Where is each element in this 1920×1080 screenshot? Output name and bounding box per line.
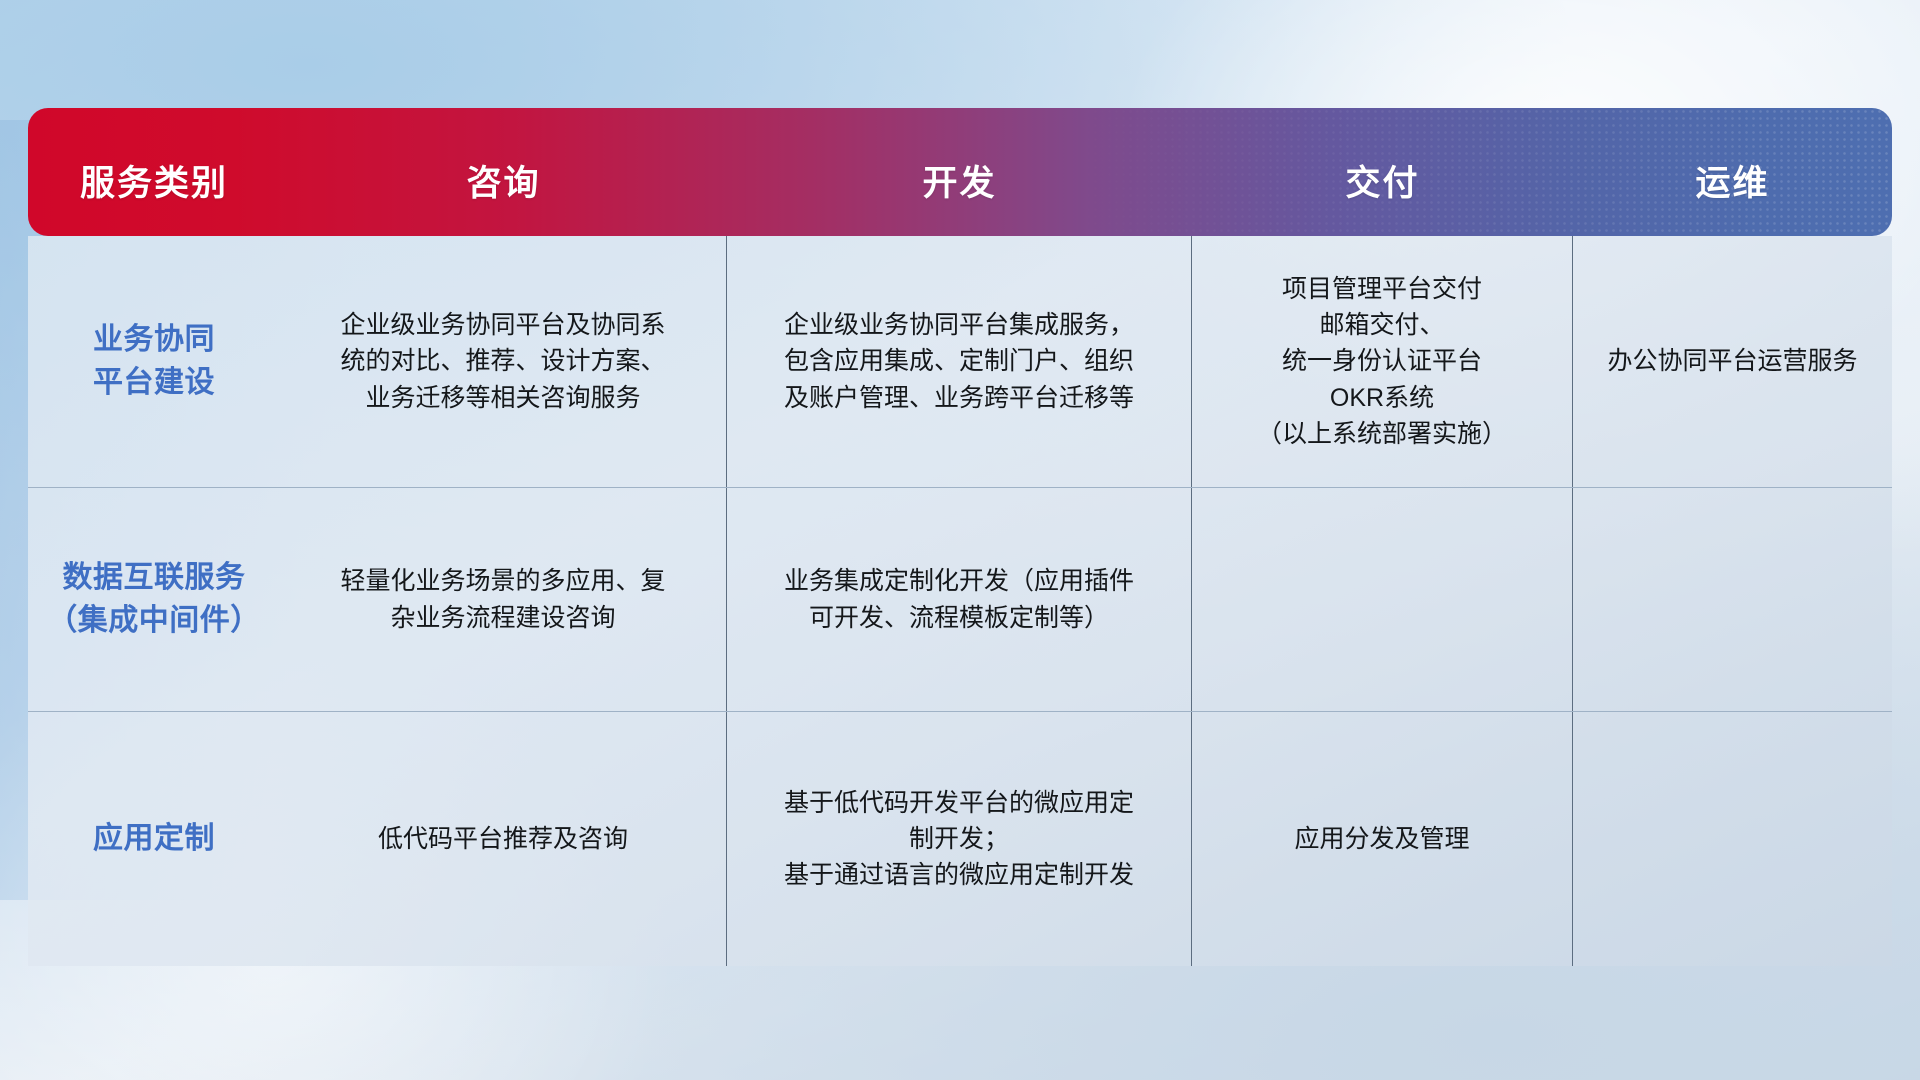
column-header-consulting: 咨询 [280,155,727,236]
cell-development: 业务集成定制化开发（应用插件 可开发、流程模板定制等） [727,488,1192,711]
column-header-delivery: 交付 [1192,155,1573,236]
table-row: 数据互联服务 （集成中间件） 轻量化业务场景的多应用、复 杂业务流程建设咨询 业… [28,488,1892,712]
cell-operations [1573,488,1892,711]
service-matrix-table: 服务类别 咨询 开发 交付 运维 业务协同 平台建设 企业级业务协同平台及协同系… [28,108,1892,966]
cell-operations [1573,712,1892,966]
column-header-development: 开发 [727,155,1192,236]
table-header-row: 服务类别 咨询 开发 交付 运维 [28,108,1892,236]
row-category-label: 业务协同 平台建设 [28,236,280,487]
cell-development: 基于低代码开发平台的微应用定 制开发； 基于通过语言的微应用定制开发 [727,712,1192,966]
cell-delivery: 应用分发及管理 [1192,712,1573,966]
cell-consulting: 轻量化业务场景的多应用、复 杂业务流程建设咨询 [280,488,727,711]
cell-delivery: 项目管理平台交付 邮箱交付、 统一身份认证平台 OKR系统 （以上系统部署实施） [1192,236,1573,487]
cell-consulting: 企业级业务协同平台及协同系 统的对比、推荐、设计方案、 业务迁移等相关咨询服务 [280,236,727,487]
row-category-label: 应用定制 [28,712,280,966]
table-row: 应用定制 低代码平台推荐及咨询 基于低代码开发平台的微应用定 制开发； 基于通过… [28,712,1892,966]
cell-delivery [1192,488,1573,711]
cell-consulting: 低代码平台推荐及咨询 [280,712,727,966]
table-row: 业务协同 平台建设 企业级业务协同平台及协同系 统的对比、推荐、设计方案、 业务… [28,236,1892,488]
column-header-category: 服务类别 [28,155,280,236]
cell-operations: 办公协同平台运营服务 [1573,236,1892,487]
table-body: 业务协同 平台建设 企业级业务协同平台及协同系 统的对比、推荐、设计方案、 业务… [28,236,1892,966]
cell-development: 企业级业务协同平台集成服务， 包含应用集成、定制门户、组织 及账户管理、业务跨平… [727,236,1192,487]
row-category-label: 数据互联服务 （集成中间件） [28,488,280,711]
column-header-operations: 运维 [1573,155,1892,236]
